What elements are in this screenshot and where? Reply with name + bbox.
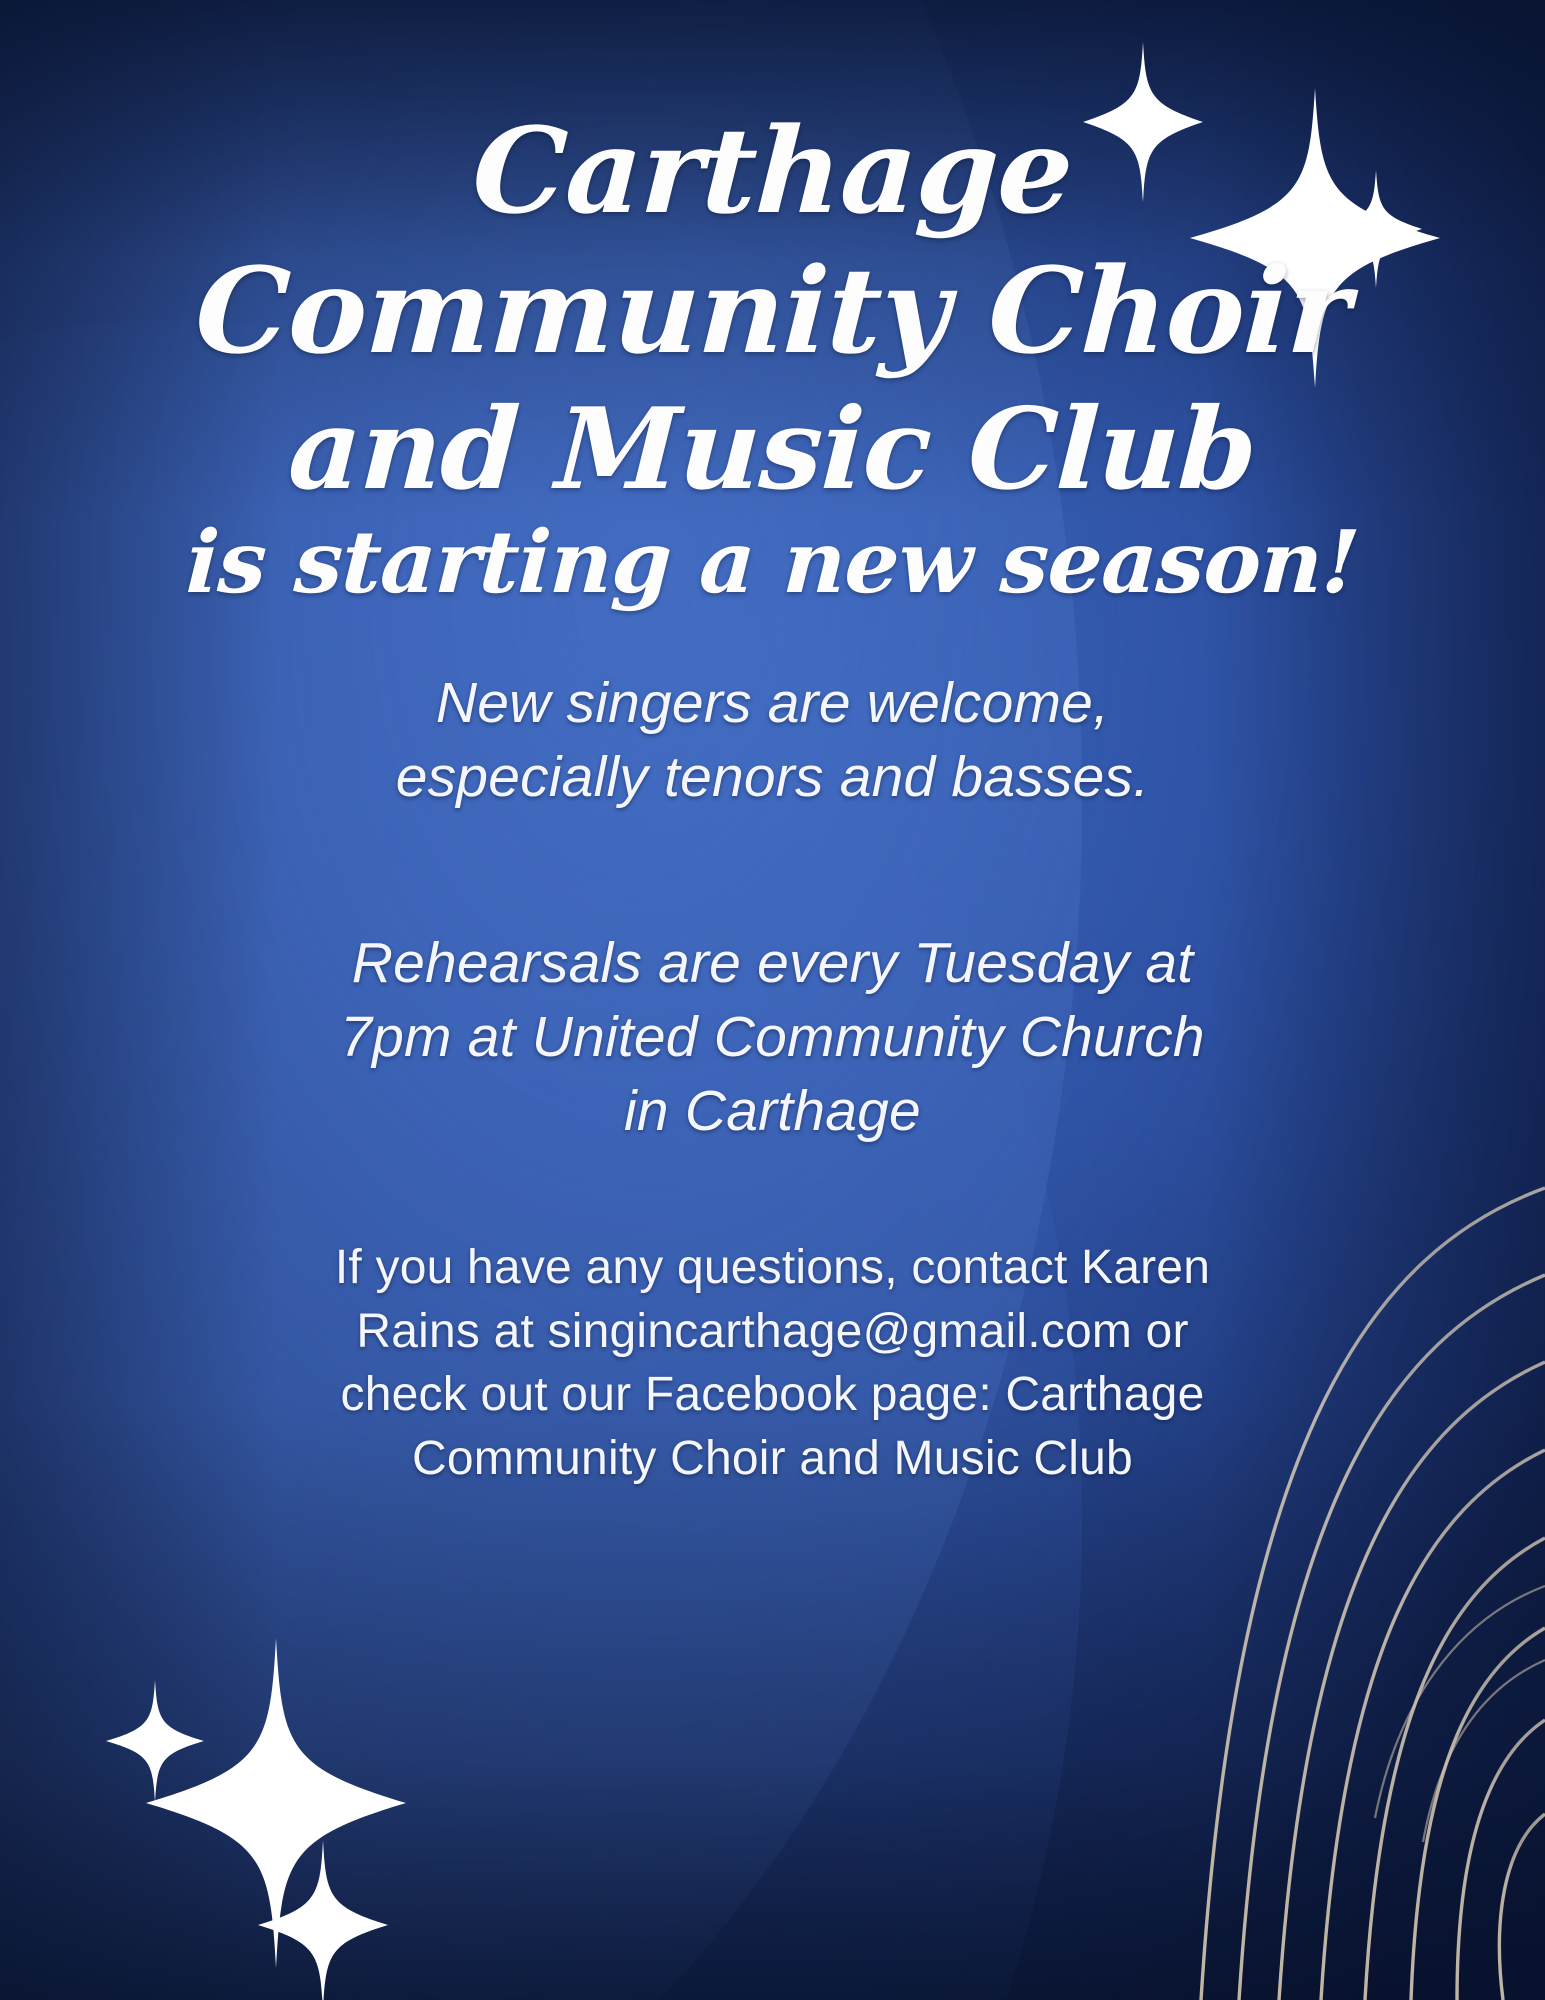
rehearsal-line-2: 7pm at United Community Church (213, 1000, 1333, 1074)
title-line-4: is starting a new season! (0, 520, 1545, 606)
contact-line-1: If you have any questions, contact Karen (203, 1236, 1343, 1299)
rehearsal-line-3: in Carthage (213, 1074, 1333, 1148)
poster-content: Carthage Community Choir and Music Club … (0, 0, 1545, 2000)
rehearsal-paragraph: Rehearsals are every Tuesday at 7pm at U… (213, 926, 1333, 1148)
contact-line-4: Community Choir and Music Club (203, 1427, 1343, 1490)
title-line-2: Community Choir (0, 252, 1545, 370)
poster-title: Carthage Community Choir and Music Club … (0, 112, 1545, 606)
rehearsal-line-1: Rehearsals are every Tuesday at (213, 926, 1333, 1000)
welcome-line-2: especially tenors and basses. (243, 740, 1303, 814)
poster-canvas: Carthage Community Choir and Music Club … (0, 0, 1545, 2000)
contact-line-2: Rains at singincarthage@gmail.com or (203, 1300, 1343, 1363)
welcome-paragraph: New singers are welcome, especially teno… (243, 666, 1303, 814)
welcome-line-1: New singers are welcome, (243, 666, 1303, 740)
contact-paragraph: If you have any questions, contact Karen… (203, 1236, 1343, 1489)
title-line-3: and Music Club (0, 394, 1545, 506)
poster-body: New singers are welcome, especially teno… (0, 666, 1545, 1490)
contact-line-3: check out our Facebook page: Carthage (203, 1363, 1343, 1426)
title-line-1: Carthage (0, 112, 1545, 230)
